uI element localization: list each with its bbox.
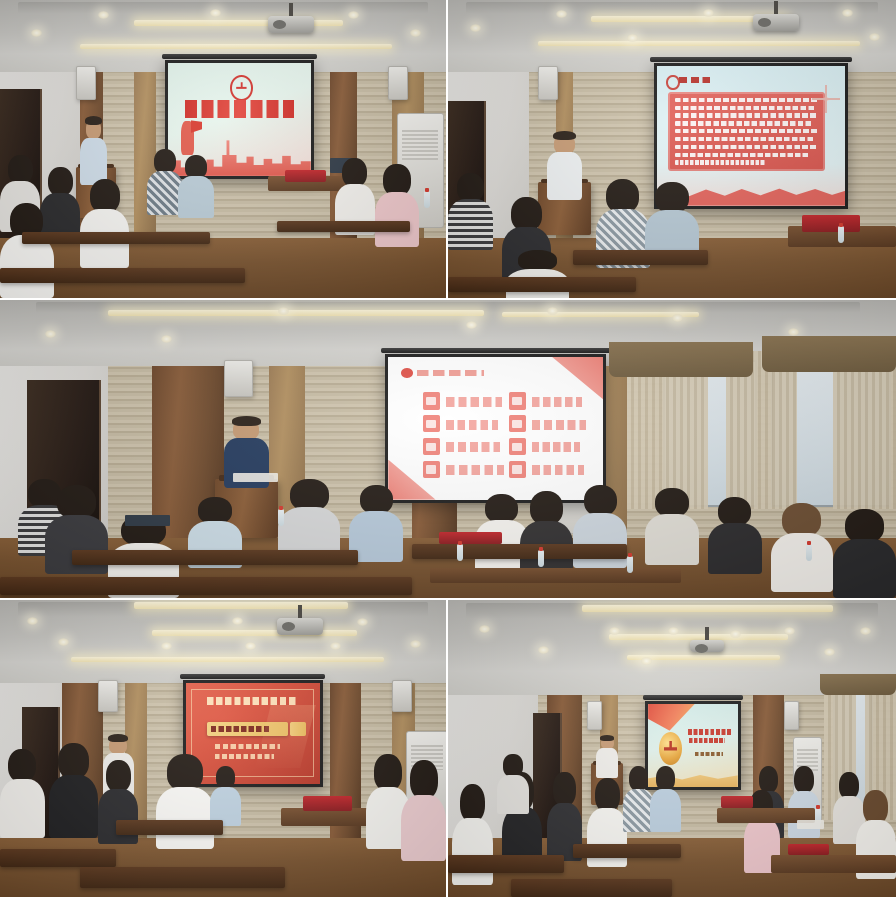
- head: [530, 491, 563, 525]
- wall-speaker: [224, 360, 253, 398]
- audience-member: [156, 754, 214, 849]
- downlight: [869, 33, 880, 41]
- head: [782, 503, 821, 537]
- cove-light: [502, 312, 699, 317]
- audience-member: [375, 164, 420, 247]
- audience-member: [0, 749, 45, 838]
- water-bottle: [424, 191, 430, 208]
- downlight: [161, 335, 172, 343]
- audience-member: [708, 497, 762, 574]
- audience-member: [80, 179, 129, 268]
- downlight: [45, 330, 56, 338]
- ceiling-recess: [466, 2, 878, 14]
- shirt: [375, 192, 420, 247]
- presenter-head: [601, 737, 614, 749]
- panel-divider-vertical: [446, 0, 448, 298]
- shirt: [98, 789, 138, 844]
- shirt: [448, 199, 493, 250]
- list-item-text: [446, 420, 498, 430]
- bench-row: [116, 820, 223, 835]
- ribbon-graphic: [648, 704, 695, 731]
- head: [584, 485, 617, 517]
- downlight: [410, 640, 421, 648]
- desk-row: [430, 568, 681, 583]
- shirt: [0, 779, 45, 838]
- ceiling: [0, 600, 446, 683]
- water-bottle: [538, 550, 544, 567]
- cove-light: [108, 310, 484, 316]
- slide-title-text: [688, 729, 731, 735]
- red-cloth: [303, 796, 352, 811]
- list-chip-icon: [509, 392, 526, 409]
- photo-collage: [0, 0, 896, 897]
- downlight: [672, 314, 683, 322]
- bullet-circle-icon: [401, 368, 413, 378]
- snowflake-icon: [815, 85, 838, 113]
- head: [518, 250, 557, 270]
- head: [48, 167, 73, 196]
- list-item-text: [446, 397, 502, 407]
- curtain: [833, 348, 896, 509]
- text-line: [675, 113, 817, 117]
- head: [342, 158, 367, 187]
- audience-member: [497, 754, 528, 813]
- head: [655, 182, 688, 214]
- downlight: [538, 646, 549, 654]
- audience-member: [645, 488, 699, 565]
- head: [216, 766, 235, 789]
- cove-light: [134, 602, 348, 609]
- downlight: [410, 29, 421, 37]
- downlight: [641, 657, 652, 665]
- downlight: [547, 307, 558, 315]
- text-line: [675, 145, 817, 149]
- downlight: [31, 29, 42, 37]
- projector-icon: [753, 14, 799, 31]
- head: [198, 497, 231, 524]
- shirt: [650, 789, 681, 832]
- slide-title-text: [185, 100, 293, 118]
- shirt: [573, 513, 627, 568]
- shirt: [771, 533, 834, 592]
- downlight: [479, 625, 490, 633]
- projector-icon: [277, 618, 323, 635]
- presenter-body: [547, 152, 583, 199]
- document-paper: [233, 473, 278, 482]
- meeting-room-scene: [0, 0, 446, 298]
- list-chip-icon: [423, 415, 440, 432]
- audience-member: [401, 760, 446, 861]
- panel-top-left: [0, 0, 446, 298]
- slide-agenda: [388, 357, 603, 500]
- shirt: [708, 523, 762, 574]
- head: [360, 485, 393, 514]
- red-cloth: [721, 796, 752, 808]
- head: [90, 179, 120, 213]
- text-line: [675, 160, 766, 164]
- panel-middle-wide: [0, 300, 896, 598]
- screen-roller: [650, 57, 852, 62]
- head: [511, 197, 542, 231]
- cove-light: [71, 657, 383, 662]
- head: [863, 790, 888, 824]
- head: [58, 743, 88, 779]
- presenter-head: [554, 134, 575, 154]
- wall-speaker: [784, 701, 799, 730]
- wall-speaker: [98, 680, 118, 712]
- text-line: [675, 153, 809, 157]
- desk-row: [771, 855, 896, 873]
- list-chip-icon: [423, 438, 440, 455]
- head: [8, 155, 33, 184]
- bench-row: [72, 550, 359, 565]
- red-cloth: [788, 844, 828, 856]
- downlight: [245, 642, 256, 650]
- cove-light: [80, 44, 392, 49]
- bench-row: [80, 867, 285, 888]
- presenter-head: [86, 119, 102, 139]
- bench-row: [412, 544, 627, 559]
- head: [154, 149, 176, 174]
- downlight: [668, 627, 679, 635]
- shirt: [156, 787, 214, 850]
- downlight: [609, 627, 620, 635]
- downlight: [703, 9, 714, 17]
- head: [845, 509, 884, 543]
- shirt: [49, 775, 98, 838]
- downlight: [27, 617, 38, 625]
- audience-member: [650, 766, 681, 831]
- head: [595, 778, 620, 812]
- audience-member: [771, 503, 834, 592]
- head: [718, 497, 751, 526]
- downlight: [278, 307, 289, 315]
- downlight: [161, 642, 172, 650]
- wall-speaker: [388, 66, 408, 101]
- audience-member: [448, 173, 493, 250]
- panel-divider-horizontal: [0, 598, 896, 600]
- panel-bottom-left: [0, 600, 446, 897]
- audience-member: [210, 766, 241, 825]
- slide-heading-text: [679, 77, 709, 84]
- list-chip-icon: [423, 461, 440, 478]
- red-cloth: [802, 215, 860, 233]
- projection-screen: [385, 354, 606, 503]
- head: [485, 494, 518, 523]
- document-paper: [797, 820, 824, 829]
- shirt: [178, 176, 214, 217]
- audience-member: [520, 491, 574, 580]
- gold-party-emblem-icon: [659, 732, 682, 765]
- water-bottle: [278, 509, 284, 526]
- bench-row: [0, 849, 116, 867]
- projector-icon: [690, 640, 724, 652]
- cove-light: [582, 605, 833, 612]
- slide-text-block: [668, 92, 824, 170]
- head: [374, 754, 402, 790]
- list-item-text: [532, 442, 579, 452]
- wall-speaker: [76, 66, 96, 101]
- downlight: [330, 642, 341, 650]
- slide-title-line2: [689, 738, 725, 743]
- list-item-text: [532, 397, 581, 407]
- shirt: [833, 539, 896, 598]
- bullet-circle-icon: [666, 75, 679, 90]
- shirt: [401, 795, 446, 862]
- head: [290, 479, 329, 511]
- curtain-valance: [762, 336, 896, 372]
- list-chip-icon: [509, 415, 526, 432]
- panel-divider-vertical: [446, 600, 448, 897]
- cove-light: [152, 630, 357, 636]
- list-item-text: [532, 420, 586, 430]
- curtain-valance: [609, 342, 752, 378]
- text-line: [675, 129, 819, 133]
- screen-surface: [388, 357, 603, 500]
- audience-member: [833, 509, 896, 598]
- head: [8, 749, 36, 783]
- text-line: [675, 106, 816, 110]
- screen-roller: [180, 674, 325, 679]
- meeting-room-scene: [0, 300, 896, 598]
- red-cloth: [439, 532, 502, 544]
- downlight: [556, 10, 567, 18]
- presenter: [547, 134, 583, 200]
- laptop: [125, 515, 170, 527]
- corner-decoration: [552, 357, 604, 400]
- bench-row: [22, 232, 209, 244]
- slide-heading: [401, 367, 491, 380]
- bench-row: [0, 268, 245, 283]
- head: [167, 754, 203, 790]
- bench-row: [277, 221, 411, 233]
- downlight: [357, 618, 368, 626]
- presenter: [80, 119, 107, 185]
- head: [185, 155, 207, 179]
- list-item-text: [446, 442, 500, 452]
- flag-graphic: [191, 120, 202, 132]
- water-bottle: [806, 544, 812, 561]
- head: [57, 485, 96, 519]
- downlight: [860, 627, 871, 635]
- shirt: [497, 775, 528, 814]
- screen-roller: [381, 348, 611, 353]
- list-chip-icon: [509, 461, 526, 478]
- downlight: [232, 617, 243, 625]
- text-line: [675, 121, 812, 125]
- head: [503, 754, 522, 777]
- wall-speaker: [538, 66, 558, 101]
- downlight: [470, 24, 481, 32]
- slide-heading-text: [417, 370, 484, 376]
- water-bottle: [838, 226, 844, 243]
- head: [457, 173, 485, 202]
- downlight: [98, 11, 109, 19]
- head: [655, 488, 688, 517]
- presenter-head: [109, 737, 127, 755]
- party-emblem-icon: [230, 75, 253, 101]
- slide-heading: [666, 74, 715, 87]
- list-item-text: [532, 465, 584, 475]
- head: [106, 760, 131, 792]
- slide-subtitle-text: [695, 752, 724, 756]
- red-cloth: [285, 170, 325, 182]
- presenter-body: [596, 748, 618, 778]
- downlight: [58, 638, 69, 646]
- head: [383, 164, 411, 196]
- wall-speaker: [392, 680, 412, 712]
- water-bottle: [457, 544, 463, 561]
- bench-row: [448, 855, 564, 873]
- shirt: [452, 818, 492, 885]
- text-line: [675, 98, 819, 102]
- wall-speaker: [587, 701, 602, 730]
- presenter-body: [80, 138, 107, 185]
- screen-roller: [162, 54, 317, 59]
- bench-row: [511, 879, 672, 897]
- meeting-room-scene: [448, 600, 896, 897]
- panel-divider-horizontal: [0, 298, 896, 300]
- shirt: [587, 808, 627, 867]
- head: [656, 766, 675, 791]
- audience-member: [49, 743, 98, 838]
- text-line: [675, 137, 814, 141]
- downlight: [842, 9, 853, 17]
- meeting-room-scene: [0, 600, 446, 897]
- shirt: [45, 515, 108, 574]
- cove-light: [538, 41, 861, 46]
- head: [460, 784, 485, 822]
- screen-roller: [643, 695, 742, 700]
- panel-bottom-right: [448, 600, 896, 897]
- head: [629, 766, 648, 791]
- curtain-valance: [820, 674, 896, 695]
- list-chip-icon: [423, 392, 440, 409]
- presenter: [596, 737, 618, 779]
- list-item-text: [446, 465, 504, 475]
- shirt: [645, 514, 699, 565]
- head: [606, 179, 639, 213]
- downlight: [784, 627, 795, 635]
- downlight: [466, 321, 477, 329]
- head: [553, 772, 575, 806]
- downlight: [210, 9, 221, 17]
- downlight: [788, 328, 799, 336]
- audience-member: [178, 155, 214, 218]
- projector-icon: [268, 16, 314, 33]
- ceiling-recess: [18, 2, 428, 14]
- head: [410, 760, 438, 798]
- shirt: [0, 235, 54, 298]
- panel-top-right: [448, 0, 896, 298]
- meeting-room-scene: [448, 0, 896, 298]
- bench-row: [573, 844, 681, 859]
- audience-member: [0, 203, 54, 298]
- downlight: [824, 648, 835, 656]
- bench-row: [573, 250, 707, 265]
- water-bottle: [627, 556, 633, 573]
- head: [794, 766, 813, 793]
- bench-row: [448, 277, 636, 292]
- bench-row: [0, 577, 412, 595]
- presenter-head: [233, 419, 259, 440]
- downlight: [348, 11, 359, 19]
- list-chip-icon: [509, 438, 526, 455]
